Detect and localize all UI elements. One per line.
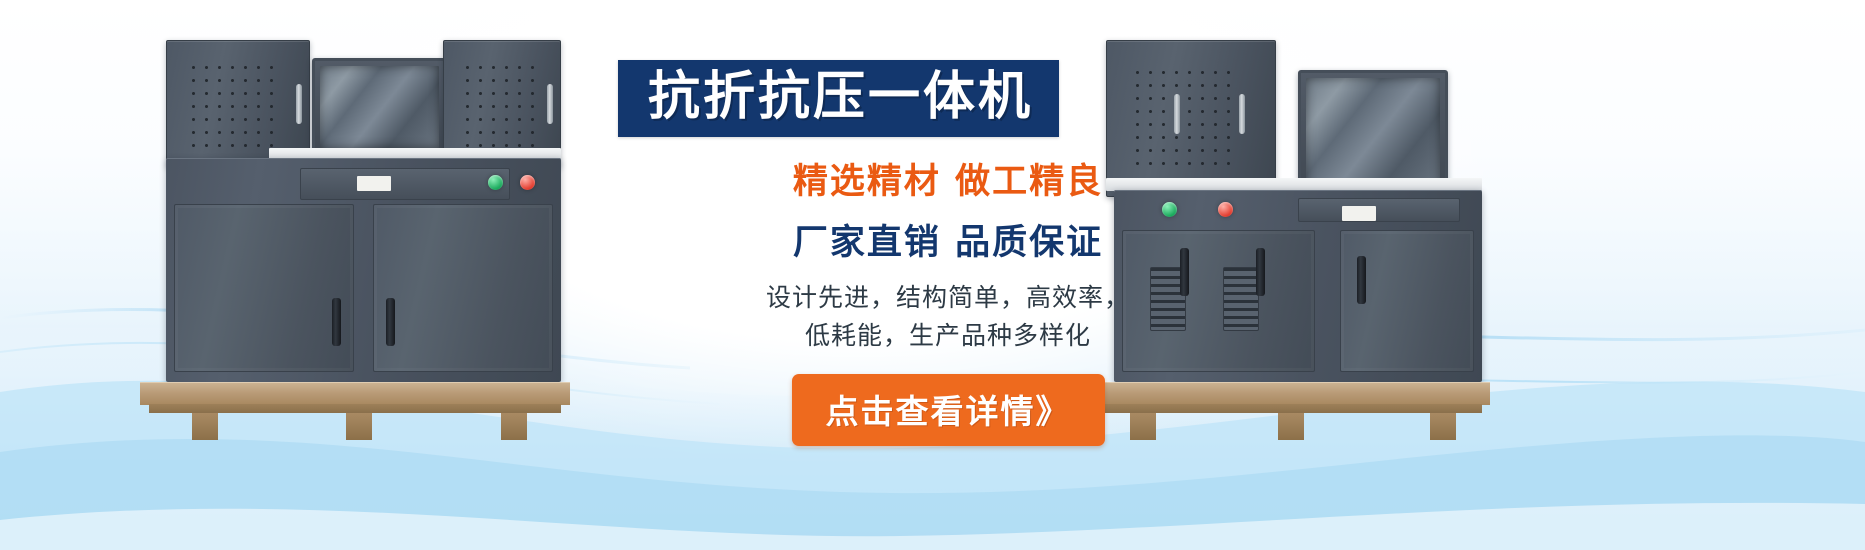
red-indicator-lamp-icon (520, 175, 535, 190)
control-monitor (312, 58, 447, 156)
monitor-screen (1306, 78, 1440, 193)
pallet-leg (1430, 413, 1456, 440)
description-line-1: 设计先进，结构简单，高效率， (618, 279, 1278, 318)
headline-bar: 抗折抗压一体机 (618, 60, 1059, 137)
left-product-image (140, 40, 570, 440)
product-banner: 抗折抗压一体机 精选精材 做工精良 厂家直销 品质保证 设计先进，结构简单，高效… (0, 0, 1865, 550)
door-handle-icon (1357, 256, 1366, 304)
machine-door-right (1340, 230, 1474, 372)
door-handle-icon (332, 298, 341, 346)
pallet-board-mid (149, 404, 562, 413)
slogan-orange: 精选精材 做工精良 (618, 153, 1278, 204)
machine-body (166, 158, 562, 382)
perforation-pattern (187, 61, 278, 149)
perforation-pattern (461, 61, 535, 149)
machine-drawer (1298, 198, 1460, 222)
view-details-button[interactable]: 点击查看详情》 (792, 374, 1105, 446)
machine-drawer (300, 168, 510, 200)
cabinet-handle-icon (547, 84, 553, 124)
pallet-leg (192, 413, 218, 440)
cta-container: 点击查看详情》 (618, 374, 1278, 446)
banner-text-block: 抗折抗压一体机 精选精材 做工精良 厂家直销 品质保证 设计先进，结构简单，高效… (618, 60, 1278, 446)
cabinet-handle-icon (296, 84, 302, 124)
pallet-leg (501, 413, 527, 440)
pallet-leg (346, 413, 372, 440)
description-line-2: 低耗能，生产品种多样化 (618, 317, 1278, 356)
monitor-screen (320, 66, 439, 148)
pallet-leg (1278, 413, 1304, 440)
machine-door-left (174, 204, 354, 372)
drawer-label (357, 176, 391, 191)
pallet-board-top (140, 382, 570, 405)
headline-text: 抗折抗压一体机 (648, 70, 1033, 125)
machine-door-right (373, 204, 553, 372)
description-block: 设计先进，结构简单，高效率， 低耗能，生产品种多样化 (618, 279, 1278, 357)
slogan-blue: 厂家直销 品质保证 (618, 214, 1278, 265)
door-handle-icon (386, 298, 395, 346)
wooden-pallet (140, 382, 570, 440)
drawer-label (1342, 206, 1376, 221)
